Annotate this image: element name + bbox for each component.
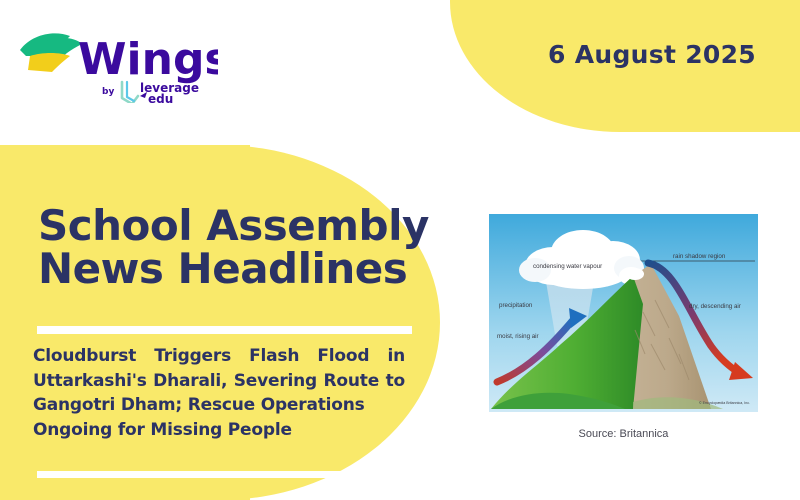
label-britannica-credit: © Encyclopædia Britannica, Inc. bbox=[699, 401, 750, 405]
wordmark-by: by bbox=[102, 87, 114, 97]
label-moist-rising-air: moist, rising air bbox=[497, 333, 539, 340]
figure-source-caption: Source: Britannica bbox=[483, 428, 764, 440]
wordmark-edu: edu bbox=[148, 92, 173, 103]
label-rain-shadow-region: rain shadow region bbox=[673, 253, 726, 260]
yellow-shape-main bbox=[0, 145, 440, 500]
leverage-edu-check-icon bbox=[122, 82, 138, 103]
page-title-line-1: School Assembly bbox=[38, 205, 428, 248]
divider-top bbox=[37, 326, 412, 334]
headline-last-line: Ongoing for Missing People bbox=[33, 418, 405, 443]
orographic-rainfall-diagram: condensing water vapour precipitation mo… bbox=[483, 204, 764, 419]
poster-canvas: Wings by leverage edu 6 August 2025 Scho… bbox=[0, 0, 800, 500]
page-title-line-2: News Headlines bbox=[38, 248, 428, 291]
wing-swoosh-icon bbox=[20, 33, 82, 72]
label-condensing-water-vapour: condensing water vapour bbox=[533, 263, 602, 270]
snow-cap bbox=[626, 268, 644, 280]
headline-main-text: Cloudburst Triggers Flash Flood in Uttar… bbox=[33, 346, 405, 415]
date-label: 6 August 2025 bbox=[548, 40, 756, 69]
wings-logo[interactable]: Wings by leverage edu bbox=[18, 18, 218, 103]
label-dry-descending-air: dry, descending air bbox=[689, 303, 741, 310]
label-precipitation: precipitation bbox=[499, 302, 533, 309]
page-title: School Assembly News Headlines bbox=[38, 205, 428, 291]
divider-bottom bbox=[37, 471, 400, 478]
wordmark-wings: Wings bbox=[78, 34, 218, 85]
headline-body: Cloudburst Triggers Flash Flood in Uttar… bbox=[33, 344, 405, 443]
